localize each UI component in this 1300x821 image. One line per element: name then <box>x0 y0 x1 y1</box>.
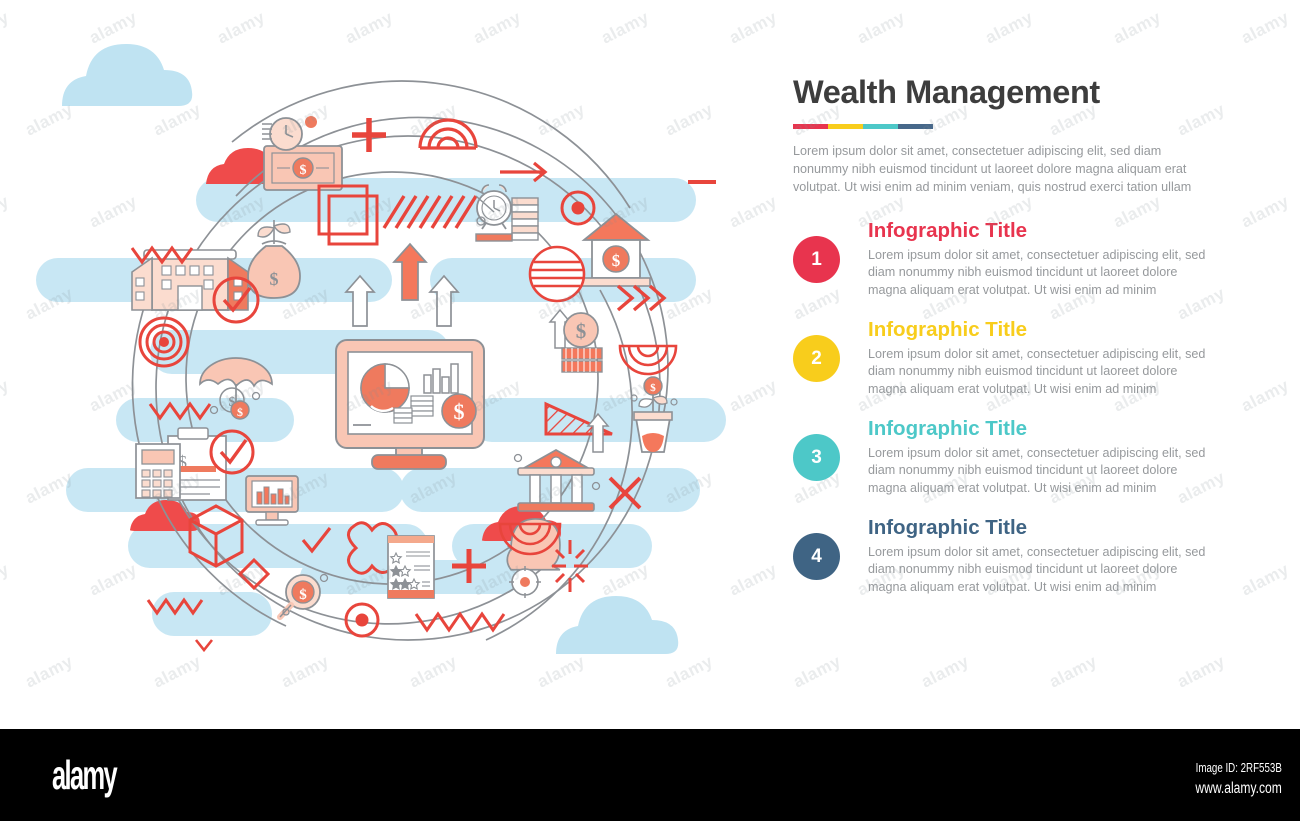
item-number-badge: 1 <box>793 236 840 283</box>
list-item[interactable]: 2 Infographic Title Lorem ipsum dolor si… <box>793 319 1213 418</box>
alarm-clock-icon <box>477 185 511 229</box>
rainbow-arc-icon <box>420 120 476 148</box>
infographic-canvas: $ $ <box>0 0 1300 729</box>
accent-segment-1 <box>793 124 828 129</box>
watermark-text: alamy <box>1174 652 1228 693</box>
accent-segment-4 <box>898 124 933 129</box>
watermark-text: alamy <box>1238 8 1292 49</box>
watermark-text: alamy <box>854 8 908 49</box>
image-id-label: Image ID: 2RF553B <box>1196 760 1282 777</box>
item-body: Lorem ipsum dolor sit amet, consectetuer… <box>868 445 1208 499</box>
item-title: Infographic Title <box>868 220 1213 243</box>
content-panel: Wealth Management Lorem ipsum dolor sit … <box>793 74 1213 616</box>
coin-dollar-icon: $ <box>442 394 476 428</box>
svg-text:$: $ <box>650 382 656 394</box>
footer-bar: alamy Image ID: 2RF553B www.alamy.com <box>0 729 1300 821</box>
page-title: Wealth Management <box>793 74 1213 110</box>
watermark-text: alamy <box>1046 652 1100 693</box>
accent-segment-3 <box>863 124 898 129</box>
striped-sphere-icon <box>530 247 584 301</box>
list-item[interactable]: 3 Infographic Title Lorem ipsum dolor si… <box>793 418 1213 517</box>
watermark-text: alamy <box>1110 8 1164 49</box>
accent-color-bar <box>793 124 933 129</box>
svg-text:$: $ <box>576 319 587 343</box>
intro-paragraph: Lorem ipsum dolor sit amet, consectetuer… <box>793 143 1208 197</box>
watermark-text: alamy <box>1238 192 1292 233</box>
watermark-text: alamy <box>982 8 1036 49</box>
house-with-dollar-icon: $ <box>582 214 650 286</box>
pie-chart-glyph <box>361 364 409 412</box>
star-rating-document-icon <box>388 536 434 598</box>
watermark-text: alamy <box>1238 376 1292 417</box>
watermark-text: alamy <box>1238 560 1292 601</box>
item-title: Infographic Title <box>868 517 1213 540</box>
svg-text:$: $ <box>237 405 243 419</box>
watermark-text: alamy <box>790 652 844 693</box>
alamy-logo: alamy <box>52 755 116 796</box>
item-number-badge: 3 <box>793 434 840 481</box>
item-body: Lorem ipsum dolor sit amet, consectetuer… <box>868 346 1208 400</box>
watermark-text: alamy <box>918 652 972 693</box>
item-number-badge: 2 <box>793 335 840 382</box>
bullseye-target-icon <box>140 318 188 366</box>
svg-text:$: $ <box>612 251 621 270</box>
monitor-bar-chart-icon <box>246 476 298 525</box>
list-item[interactable]: 4 Infographic Title Lorem ipsum dolor si… <box>793 517 1213 616</box>
list-item[interactable]: 1 Infographic Title Lorem ipsum dolor si… <box>793 220 1213 319</box>
head-with-gear-icon <box>507 519 560 598</box>
item-title: Infographic Title <box>868 418 1213 441</box>
svg-text:$: $ <box>454 399 465 424</box>
item-body: Lorem ipsum dolor sit amet, consectetuer… <box>868 544 1208 598</box>
coin-dollar-icon: $ <box>562 313 602 372</box>
svg-text:$: $ <box>299 587 307 603</box>
plus-sign-icon <box>352 118 386 152</box>
alamy-url-label: www.alamy.com <box>1196 777 1282 800</box>
money-bag-with-plant-icon: $ <box>248 220 300 298</box>
infographic-item-list: 1 Infographic Title Lorem ipsum dolor si… <box>793 220 1213 616</box>
accent-segment-2 <box>828 124 863 129</box>
wealth-management-illustration: $ $ <box>0 0 760 729</box>
footer-meta: Image ID: 2RF553B www.alamy.com <box>1171 760 1282 800</box>
svg-text:$: $ <box>300 163 307 178</box>
item-body: Lorem ipsum dolor sit amet, consectetuer… <box>868 247 1208 301</box>
item-title: Infographic Title <box>868 319 1213 342</box>
item-number-badge: 4 <box>793 533 840 580</box>
banknote-with-clock-icon: $ <box>262 116 342 190</box>
svg-text:$: $ <box>270 269 279 289</box>
monitor-analytics-dashboard: $ <box>336 340 484 469</box>
